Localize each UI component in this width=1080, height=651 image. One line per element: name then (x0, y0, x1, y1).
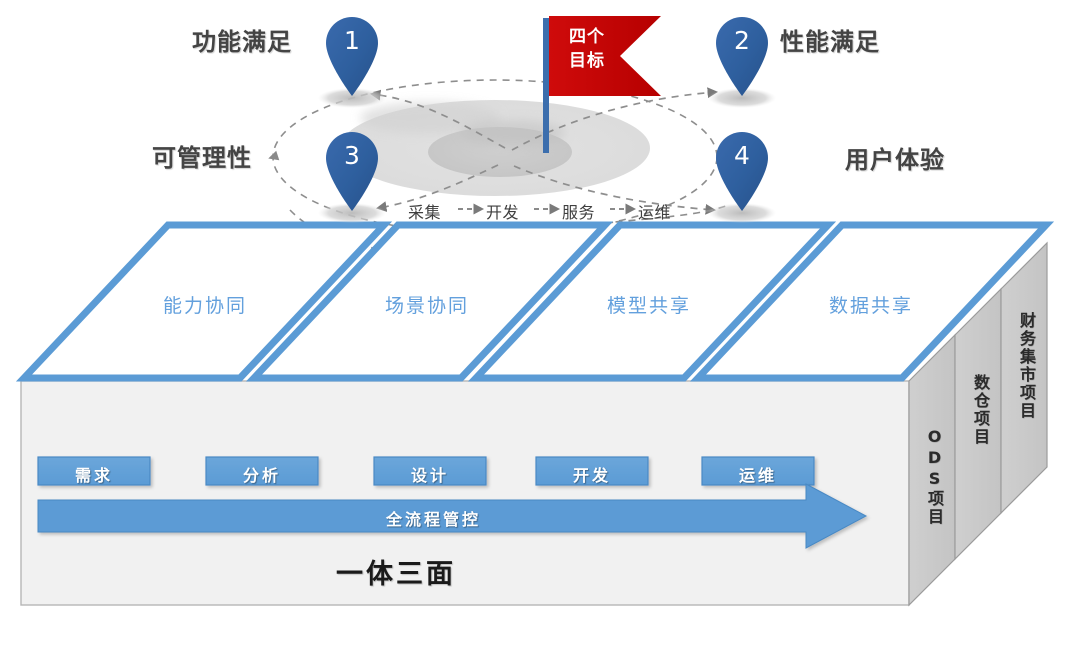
goal-pin-number-2: 2 (719, 26, 765, 55)
side-panel-label-3[interactable]: 财务集市项目 (1014, 312, 1038, 420)
goal-label-1: 功能满足 (192, 22, 292, 57)
diagram-bottom-title: 一体三面 (336, 552, 456, 591)
process-stage-label-1[interactable]: 需求 (38, 462, 150, 486)
top-panel-label-2[interactable]: 场景协同 (385, 291, 469, 318)
top-panel-label-4[interactable]: 数据共享 (829, 291, 913, 318)
process-stage-label-4[interactable]: 开发 (536, 462, 648, 486)
flag-text-line1: 四个 (558, 28, 616, 48)
side-panel-label-2[interactable]: 数仓项目 (968, 374, 992, 446)
flow-step-4: 运维 (638, 199, 671, 223)
process-stage-label-5[interactable]: 运维 (702, 462, 814, 486)
goal-pin-number-1: 1 (329, 26, 375, 55)
goal-pin-number-3: 3 (329, 141, 375, 170)
diagram-canvas: 功能满足 性能满足 可管理性 用户体验 1 2 3 4 四个 目标 采集 开发 … (0, 0, 1080, 651)
process-stage-label-3[interactable]: 设计 (374, 462, 486, 486)
flow-step-2: 开发 (486, 199, 519, 223)
side-panel-label-1[interactable]: ODS项目 (922, 427, 946, 526)
process-arrow-label: 全流程管控 (386, 506, 481, 530)
diagram-svg (0, 0, 1080, 651)
top-panel-label-1[interactable]: 能力协同 (163, 291, 247, 318)
goal-label-4: 用户体验 (845, 140, 945, 175)
flow-step-3: 服务 (562, 199, 595, 223)
goal-label-2: 性能满足 (780, 22, 880, 57)
island-blobs (340, 100, 650, 196)
process-stage-label-2[interactable]: 分析 (206, 462, 318, 486)
flow-step-1: 采集 (408, 199, 441, 223)
flag-text-line2: 目标 (558, 52, 616, 72)
goal-pin-number-4: 4 (719, 141, 765, 170)
top-panel-label-3[interactable]: 模型共享 (607, 291, 691, 318)
goal-label-3: 可管理性 (152, 138, 252, 173)
